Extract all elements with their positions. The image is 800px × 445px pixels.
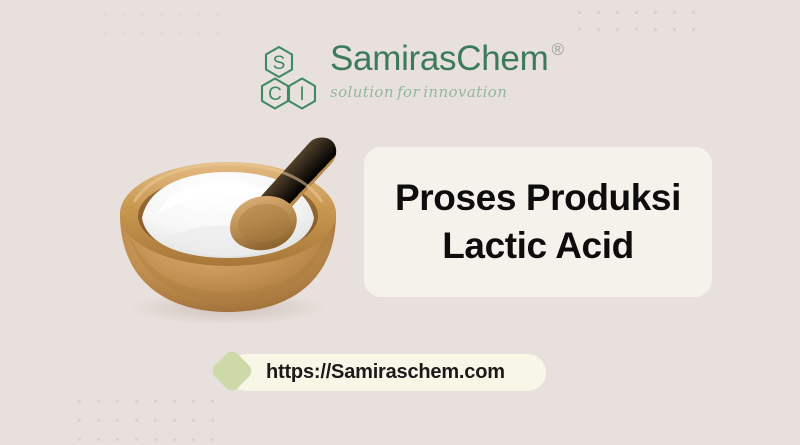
decorative-dot-pattern-right [718, 300, 798, 360]
brand-name-row: SamirasChem ® [330, 40, 564, 78]
title-card: Proses Produksi Lactic Acid [364, 147, 712, 297]
website-url-text: https://Samiraschem.com [266, 361, 505, 384]
website-url-bar[interactable]: https://Samiraschem.com [228, 354, 546, 391]
title-line-1: Proses Produksi [395, 174, 681, 222]
title-line-2: Lactic Acid [442, 222, 634, 270]
logo-letter-c: C [268, 84, 282, 105]
brand-name: SamirasChem [330, 40, 548, 78]
brand-header: S C I SamirasChem ® solution for innovat… [258, 40, 564, 111]
brand-text-block: SamirasChem ® solution for innovation [330, 40, 564, 101]
green-diamond-icon [209, 348, 254, 393]
poster-canvas: S C I SamirasChem ® solution for innovat… [0, 0, 800, 445]
decorative-dot-pattern-top-left [95, 5, 220, 45]
decorative-dot-pattern-bottom-left [70, 392, 220, 445]
registered-trademark-icon: ® [551, 41, 564, 58]
sci-hexagon-logo-icon: S C I [258, 45, 320, 111]
brand-tagline: solution for innovation [330, 83, 564, 101]
logo-letter-s: S [273, 53, 286, 74]
product-photo-bowl-of-powder [104, 132, 356, 328]
logo-letter-i: I [299, 84, 304, 105]
decorative-dot-pattern-top-right [570, 4, 700, 38]
